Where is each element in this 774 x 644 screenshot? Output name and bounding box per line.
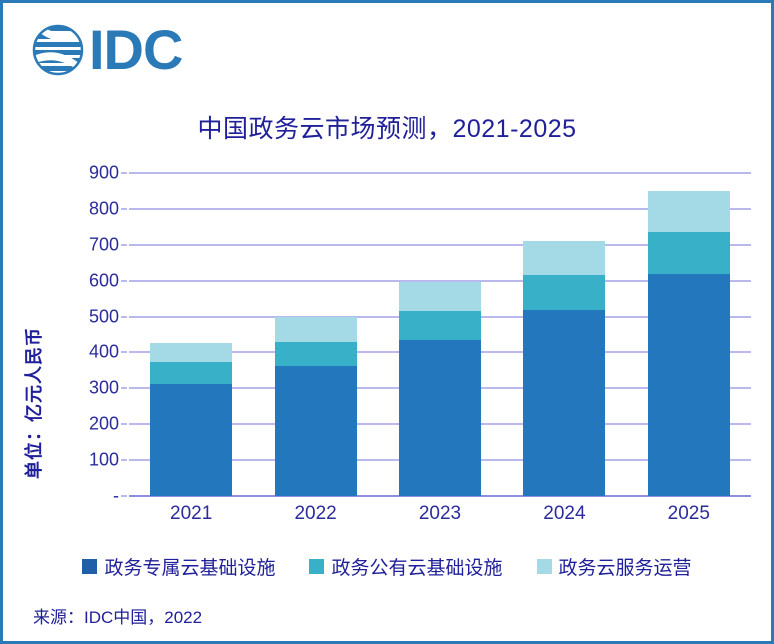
y-axis-tick-mark: [121, 316, 127, 318]
y-axis-tick-label: 100: [89, 450, 119, 471]
bar-group[interactable]: [399, 173, 481, 496]
plot-canvas: [129, 173, 751, 496]
y-axis-tick-label: 700: [89, 234, 119, 255]
y-axis-tick-mark: [121, 351, 127, 353]
chart-page: IDC 中国政务云市场预测，2021-2025 单位：亿元人民币 9008007…: [0, 0, 774, 644]
bar-stack[interactable]: [648, 191, 730, 496]
bar-segment[interactable]: [523, 275, 605, 310]
y-axis-title: 单位：亿元人民币: [13, 303, 53, 503]
y-axis-tick-mark: [121, 244, 127, 246]
bar-segment[interactable]: [523, 241, 605, 275]
bar-segment[interactable]: [399, 311, 481, 340]
bar-series-container: [129, 173, 751, 496]
y-axis-title-text: 单位：亿元人民币: [20, 327, 46, 479]
bar-group[interactable]: [275, 173, 357, 496]
legend-swatch-icon: [309, 559, 324, 574]
y-axis-tick-label: 800: [89, 198, 119, 219]
source-note: 来源：IDC中国，2022: [33, 603, 202, 628]
chart-legend: 政务专属云基础设施政务公有云基础设施政务云服务运营: [3, 553, 771, 580]
y-axis-tick-mark: [121, 423, 127, 425]
y-axis-tick-label: 900: [89, 163, 119, 184]
y-axis-tick-mark: [121, 172, 127, 174]
idc-logo: IDC: [31, 21, 182, 79]
bar-segment[interactable]: [399, 340, 481, 496]
y-axis-tick-label: -: [113, 486, 119, 507]
x-axis-tick-label: 2022: [294, 503, 336, 525]
bar-segment[interactable]: [150, 362, 232, 384]
bar-group[interactable]: [648, 173, 730, 496]
bar-segment[interactable]: [523, 310, 605, 496]
bar-segment[interactable]: [648, 274, 730, 496]
bar-stack[interactable]: [150, 343, 232, 496]
x-axis-tick-label: 2025: [668, 503, 710, 525]
x-axis-tick-label: 2023: [419, 503, 461, 525]
y-axis-tick-mark: [121, 459, 127, 461]
legend-label: 政务公有云基础设施: [331, 553, 502, 580]
x-axis-labels: 20212022202320242025: [129, 503, 751, 533]
legend-label: 政务专属云基础设施: [104, 553, 275, 580]
bar-segment[interactable]: [275, 342, 357, 366]
y-axis-tick-label: 300: [89, 378, 119, 399]
y-axis-tick-mark: [121, 387, 127, 389]
bar-segment[interactable]: [275, 366, 357, 496]
y-axis-tick-label: 200: [89, 414, 119, 435]
legend-item[interactable]: 政务公有云基础设施: [309, 553, 502, 580]
plot-area: 900800700600500400300200100-: [61, 173, 751, 503]
y-axis-tick-mark: [121, 280, 127, 282]
bar-segment[interactable]: [399, 282, 481, 311]
y-axis-tick-label: 600: [89, 270, 119, 291]
y-axis-tick-label: 500: [89, 306, 119, 327]
bar-segment[interactable]: [150, 384, 232, 496]
y-axis-ticks: 900800700600500400300200100-: [61, 173, 129, 503]
y-axis-tick-label: 400: [89, 342, 119, 363]
idc-globe-icon: [31, 23, 85, 77]
x-axis-tick-label: 2024: [543, 503, 585, 525]
bar-segment[interactable]: [648, 232, 730, 274]
bar-segment[interactable]: [150, 343, 232, 361]
y-axis-tick-mark: [121, 208, 127, 210]
legend-label: 政务云服务运营: [559, 553, 692, 580]
x-axis-tick-label: 2021: [170, 503, 212, 525]
bar-stack[interactable]: [523, 241, 605, 496]
legend-swatch-icon: [82, 559, 97, 574]
bar-group[interactable]: [523, 173, 605, 496]
y-axis-tick-mark: [121, 495, 127, 497]
chart-title: 中国政务云市场预测，2021-2025: [3, 109, 771, 145]
bar-segment[interactable]: [648, 191, 730, 232]
legend-item[interactable]: 政务云服务运营: [537, 553, 692, 580]
legend-swatch-icon: [537, 559, 552, 574]
legend-item[interactable]: 政务专属云基础设施: [82, 553, 275, 580]
bar-stack[interactable]: [399, 282, 481, 496]
bar-stack[interactable]: [275, 317, 357, 496]
bar-group[interactable]: [150, 173, 232, 496]
bar-segment[interactable]: [275, 317, 357, 341]
idc-logo-text: IDC: [89, 23, 182, 77]
